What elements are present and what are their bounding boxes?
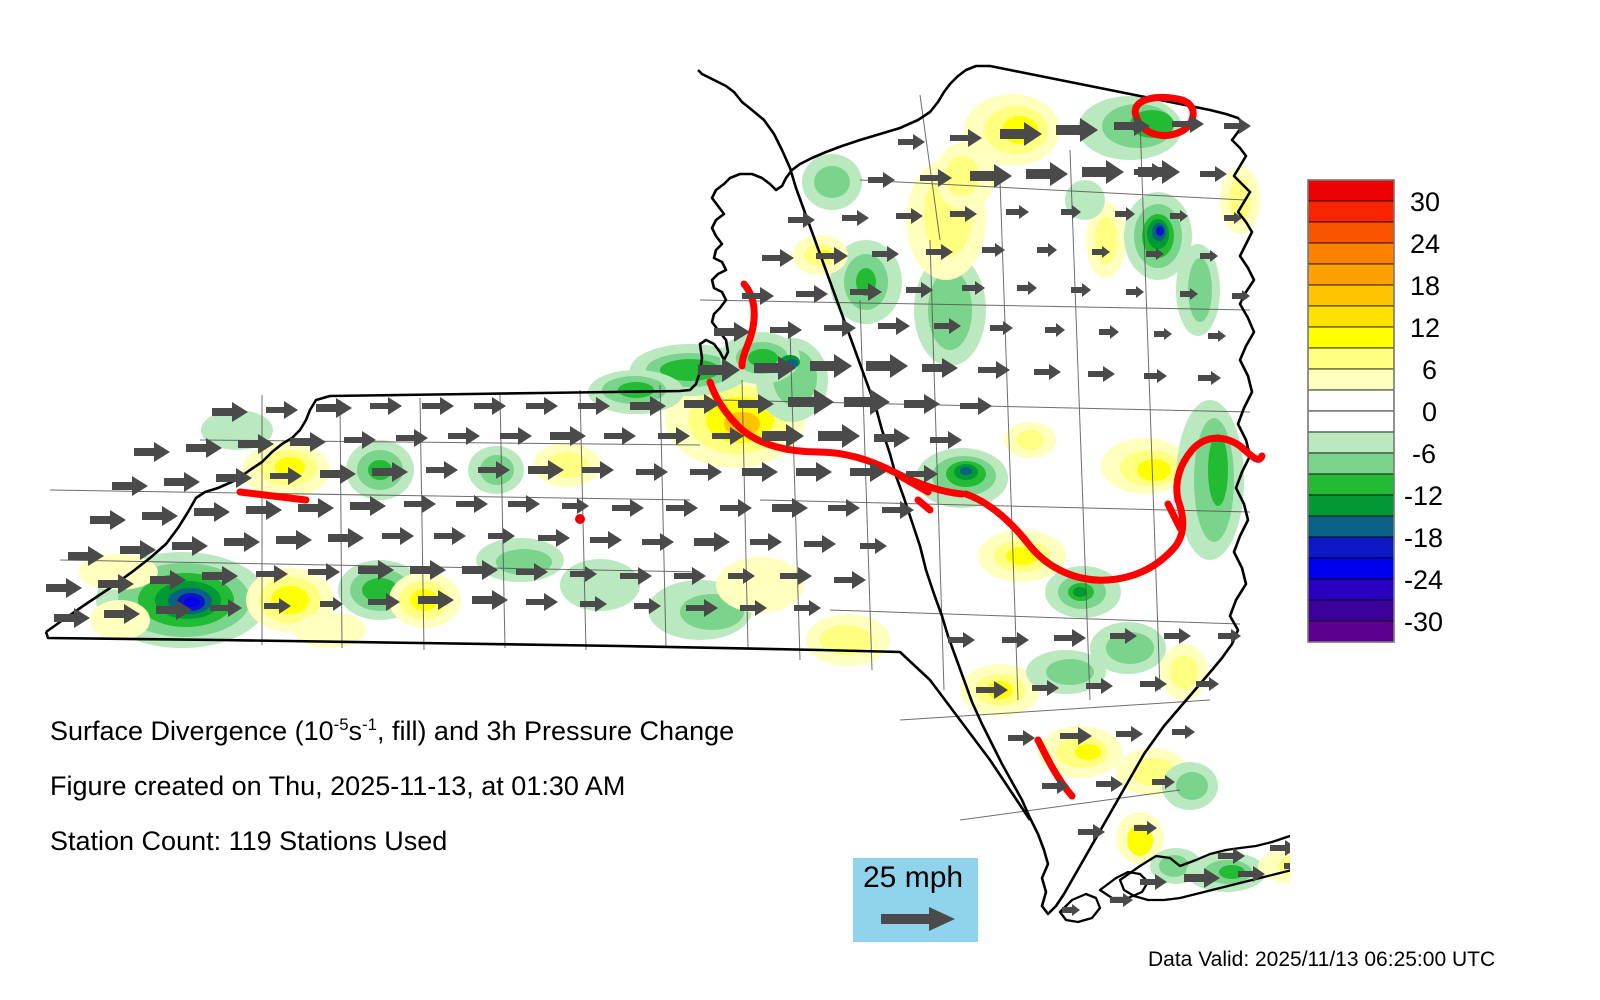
colorbar-svg: 30 24 18 12 6 0 -6 -12 -18 -24 -30	[1300, 170, 1530, 660]
wind-scale-label: 25 mph	[853, 858, 978, 894]
colorbar-tick-labels: 30 24 18 12 6 0 -6 -12 -18 -24 -30	[1404, 187, 1443, 637]
colorbar: 30 24 18 12 6 0 -6 -12 -18 -24 -30	[1300, 170, 1530, 660]
cbar-tick-m12: -12	[1404, 481, 1443, 511]
cbar-tick-30: 30	[1410, 187, 1440, 217]
caption-block: Surface Divergence (10-5s-1, fill) and 3…	[50, 718, 950, 883]
cbar-tick-0: 0	[1422, 397, 1437, 427]
cbar-tick-12: 12	[1410, 313, 1440, 343]
cbar-tick-6: 6	[1422, 355, 1437, 385]
caption-title-pre: Surface Divergence (10	[50, 716, 334, 746]
wind-scale-legend: 25 mph	[853, 858, 978, 942]
cbar-tick-18: 18	[1410, 271, 1440, 301]
caption-title: Surface Divergence (10-5s-1, fill) and 3…	[50, 718, 950, 745]
colorbar-bands	[1308, 180, 1394, 642]
caption-title-post: , fill) and 3h Pressure Change	[377, 716, 734, 746]
caption-exponent-2: -1	[362, 715, 377, 734]
cbar-tick-m6: -6	[1412, 439, 1436, 469]
cbar-tick-m18: -18	[1404, 523, 1443, 553]
caption-exponent-1: -5	[334, 715, 349, 734]
cbar-tick-m24: -24	[1404, 565, 1443, 595]
caption-station-count: Station Count: 119 Stations Used	[50, 828, 950, 855]
data-valid-timestamp: Data Valid: 2025/11/13 06:25:00 UTC	[1148, 948, 1495, 972]
cbar-tick-m30: -30	[1404, 607, 1443, 637]
caption-title-mid: s	[349, 716, 363, 746]
caption-created: Figure created on Thu, 2025-11-13, at 01…	[50, 773, 950, 800]
cbar-tick-24: 24	[1410, 229, 1440, 259]
station-marker	[575, 514, 585, 524]
wind-scale-arrow-icon	[881, 906, 957, 932]
